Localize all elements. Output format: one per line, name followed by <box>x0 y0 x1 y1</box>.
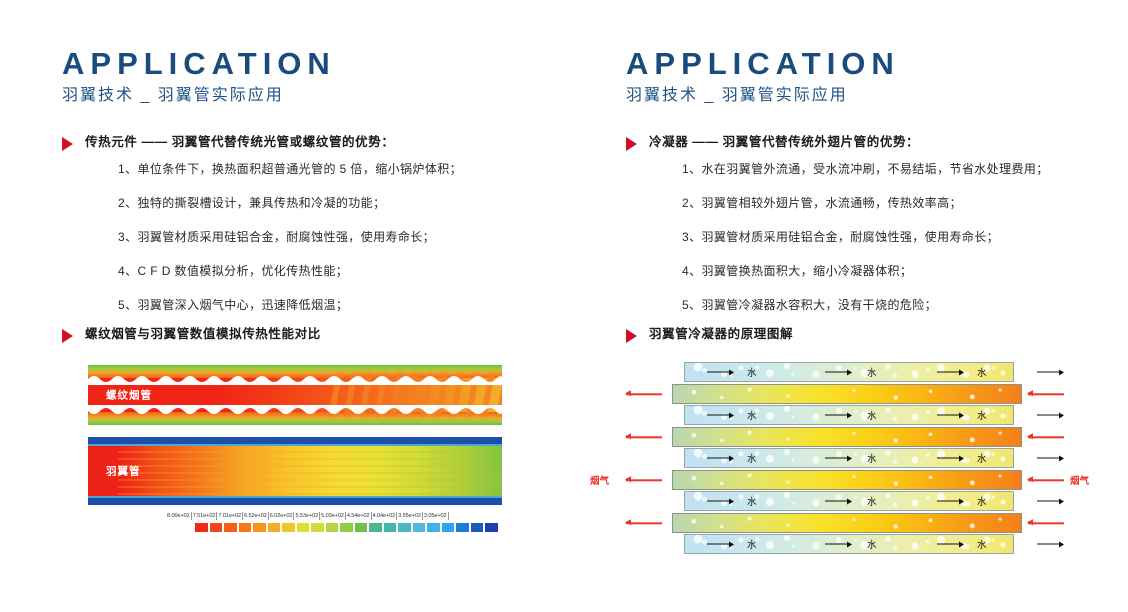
colorbar-swatch <box>194 522 209 533</box>
page-title-right: APPLICATION <box>626 48 900 79</box>
colorbar-swatch <box>267 522 282 533</box>
cfd-colorbar-swatches <box>194 522 499 533</box>
tube-row <box>624 384 1094 406</box>
tube-row: 烟气烟气 <box>624 470 1094 492</box>
cfd-image-threaded: 螺纹烟管 <box>88 365 502 425</box>
water-label: 水 <box>867 537 877 551</box>
cfd-wall-top <box>88 437 502 446</box>
tube-row <box>624 513 1094 535</box>
section-heading-cfd-comparison: 螺纹烟管与羽翼管数值模拟传热性能对比 <box>62 327 321 343</box>
bubble-texture <box>673 385 1021 403</box>
advantage-list-right: 1、水在羽翼管外流通，受水流冲刷，不易结垢，节省水处理费用； 2、羽翼管相较外翅… <box>682 163 1049 333</box>
colorbar-swatch <box>339 522 354 533</box>
bubble-texture <box>673 428 1021 446</box>
water-flow-arrow-icon <box>1037 372 1063 373</box>
triangle-bullet-icon <box>62 329 73 343</box>
cfd-wall-bottom <box>88 496 502 505</box>
cfd-colorbar: 8.00e+02 7.51e+02 7.01e+02 6.52e+02 6.02… <box>166 512 499 533</box>
colorbar-tick: 7.51e+02 <box>192 512 218 520</box>
flue-gas-arrow-right-icon <box>1028 523 1064 524</box>
water-band: 水水水 <box>684 534 1014 554</box>
water-band: 水水水 <box>684 362 1014 382</box>
page-subtitle-left: 羽翼技术 _ 羽翼管实际应用 <box>62 86 284 107</box>
colorbar-tick: 8.00e+02 <box>166 512 192 520</box>
colorbar-swatch <box>383 522 398 533</box>
water-label: 水 <box>977 365 987 379</box>
water-label: 水 <box>747 408 757 422</box>
colorbar-swatch <box>484 522 499 533</box>
flue-gas-label-left: 烟气 <box>590 473 609 487</box>
colorbar-swatch <box>426 522 441 533</box>
finned-tube-band <box>672 427 1022 447</box>
water-flow-arrow-icon <box>707 544 733 545</box>
advantage-list-left: 1、单位条件下，换热面积超普通光管的 5 倍，缩小锅炉体积； 2、独特的撕裂槽设… <box>118 163 462 333</box>
colorbar-swatch <box>441 522 456 533</box>
water-label: 水 <box>867 408 877 422</box>
colorbar-tick: 6.52e+02 <box>243 512 269 520</box>
colorbar-swatch <box>354 522 369 533</box>
bubble-texture <box>673 514 1021 532</box>
finned-tube-band <box>672 470 1022 490</box>
list-item: 2、羽翼管相较外翅片管，水流通畅，传热效率高； <box>682 197 1049 209</box>
water-flow-arrow-icon <box>707 458 733 459</box>
section-heading-advantages-left: 传热元件 —— 羽翼管代替传统光管或螺纹管的优势： <box>62 135 394 151</box>
flue-gas-arrow-left-icon <box>626 480 662 481</box>
list-item: 3、羽翼管材质采用硅铝合金，耐腐蚀性强，使用寿命长； <box>118 231 462 243</box>
water-flow-arrow-icon <box>1037 458 1063 459</box>
section-heading-text: 传热元件 —— 羽翼管代替传统光管或螺纹管的优势： <box>85 135 394 150</box>
water-channel-row: 水水水 <box>624 362 1094 384</box>
water-flow-arrow-icon <box>825 415 851 416</box>
water-flow-arrow-icon <box>825 458 851 459</box>
cfd-figure-yuyi-tube: 羽翼管 <box>88 437 502 505</box>
triangle-bullet-icon <box>626 137 637 151</box>
water-flow-arrow-icon <box>825 544 851 545</box>
flue-gas-arrow-right-icon <box>1028 394 1064 395</box>
section-heading-text: 羽翼管冷凝器的原理图解 <box>649 327 793 342</box>
colorbar-swatch <box>209 522 224 533</box>
section-heading-text: 螺纹烟管与羽翼管数值模拟传热性能对比 <box>85 327 321 342</box>
colorbar-tick: 7.01e+02 <box>217 512 243 520</box>
water-label: 水 <box>747 451 757 465</box>
colorbar-swatch <box>470 522 485 533</box>
water-label: 水 <box>977 537 987 551</box>
list-item: 1、单位条件下，换热面积超普通光管的 5 倍，缩小锅炉体积； <box>118 163 462 175</box>
water-flow-arrow-icon <box>937 501 963 502</box>
section-heading-advantages-right: 冷凝器 —— 羽翼管代替传统外翅片管的优势： <box>626 135 919 151</box>
colorbar-swatch <box>455 522 470 533</box>
bubble-texture <box>673 471 1021 489</box>
colorbar-swatch <box>310 522 325 533</box>
flue-gas-arrow-left-icon <box>626 437 662 438</box>
condenser-principle-diagram: 水水水水水水水水水烟气烟气水水水水水水 <box>624 362 1094 557</box>
colorbar-swatch <box>281 522 296 533</box>
water-label: 水 <box>977 494 987 508</box>
colorbar-swatch <box>223 522 238 533</box>
water-channel-row: 水水水 <box>624 534 1094 556</box>
cfd-colorbar-labels: 8.00e+02 7.51e+02 7.01e+02 6.52e+02 6.02… <box>166 512 499 520</box>
page-title-left: APPLICATION <box>62 48 336 79</box>
flue-gas-label-right: 烟气 <box>1070 473 1089 487</box>
triangle-bullet-icon <box>62 137 73 151</box>
page-subtitle-right: 羽翼技术 _ 羽翼管实际应用 <box>626 86 848 107</box>
colorbar-tick: 5.53e+02 <box>294 512 320 520</box>
water-label: 水 <box>867 451 877 465</box>
water-label: 水 <box>747 365 757 379</box>
water-flow-arrow-icon <box>825 501 851 502</box>
water-flow-arrow-icon <box>1037 415 1063 416</box>
flue-gas-arrow-left-icon <box>626 523 662 524</box>
list-item: 4、C F D 数值模拟分析，优化传热性能； <box>118 265 462 277</box>
water-label: 水 <box>747 537 757 551</box>
water-band: 水水水 <box>684 491 1014 511</box>
cfd-image-yuyi: 羽翼管 <box>88 437 502 505</box>
cfd-wavy-edge-top-icon <box>88 373 502 385</box>
tube-row <box>624 427 1094 449</box>
finned-tube-band <box>672 513 1022 533</box>
colorbar-swatch <box>368 522 383 533</box>
list-item: 3、羽翼管材质采用硅铝合金，耐腐蚀性强，使用寿命长； <box>682 231 1049 243</box>
list-item: 5、羽翼管冷凝器水容积大，没有干烧的危险； <box>682 299 1049 311</box>
water-flow-arrow-icon <box>937 415 963 416</box>
water-flow-arrow-icon <box>1037 544 1063 545</box>
colorbar-swatch <box>325 522 340 533</box>
water-flow-arrow-icon <box>937 458 963 459</box>
water-flow-arrow-icon <box>707 372 733 373</box>
cfd-wavy-edge-bottom-icon <box>88 405 502 417</box>
water-label: 水 <box>867 494 877 508</box>
triangle-bullet-icon <box>626 329 637 343</box>
flue-gas-arrow-left-icon <box>626 394 662 395</box>
water-channel-row: 水水水 <box>624 491 1094 513</box>
flue-gas-arrow-right-icon <box>1028 480 1064 481</box>
list-item: 2、独特的撕裂槽设计，兼具传热和冷凝的功能； <box>118 197 462 209</box>
list-item: 1、水在羽翼管外流通，受水流冲刷，不易结垢，节省水处理费用； <box>682 163 1049 175</box>
list-item: 5、羽翼管深入烟气中心，迅速降低烟温； <box>118 299 462 311</box>
colorbar-tick: 4.04e+02 <box>372 512 398 520</box>
water-band: 水水水 <box>684 405 1014 425</box>
water-flow-arrow-icon <box>937 372 963 373</box>
colorbar-swatch <box>252 522 267 533</box>
colorbar-swatch <box>397 522 412 533</box>
colorbar-tick: 3.05e+02 <box>423 512 449 520</box>
colorbar-tick: 3.55e+02 <box>397 512 423 520</box>
finned-tube-band <box>672 384 1022 404</box>
water-flow-arrow-icon <box>1037 501 1063 502</box>
slide-page: APPLICATION 羽翼技术 _ 羽翼管实际应用 传热元件 —— 羽翼管代替… <box>0 0 1128 612</box>
colorbar-tick: 5.03e+02 <box>320 512 346 520</box>
colorbar-swatch <box>296 522 311 533</box>
section-heading-text: 冷凝器 —— 羽翼管代替传统外翅片管的优势： <box>649 135 919 150</box>
colorbar-tick: 4.54e+02 <box>346 512 372 520</box>
water-label: 水 <box>747 494 757 508</box>
cfd-figure-threaded-tube: 螺纹烟管 <box>88 365 502 425</box>
water-label: 水 <box>867 365 877 379</box>
colorbar-tick: 6.02e+02 <box>269 512 295 520</box>
water-flow-arrow-icon <box>707 501 733 502</box>
cfd-figure-label: 羽翼管 <box>106 464 141 479</box>
colorbar-swatch <box>238 522 253 533</box>
water-label: 水 <box>977 451 987 465</box>
list-item: 4、羽翼管换热面积大，缩小冷凝器体积； <box>682 265 1049 277</box>
cfd-streak-pattern <box>118 446 502 496</box>
water-flow-arrow-icon <box>707 415 733 416</box>
colorbar-swatch <box>412 522 427 533</box>
section-heading-condenser-diagram: 羽翼管冷凝器的原理图解 <box>626 327 793 343</box>
water-channel-row: 水水水 <box>624 448 1094 470</box>
water-label: 水 <box>977 408 987 422</box>
right-column: APPLICATION 羽翼技术 _ 羽翼管实际应用 冷凝器 —— 羽翼管代替传… <box>564 0 1128 612</box>
water-band: 水水水 <box>684 448 1014 468</box>
cfd-figure-label: 螺纹烟管 <box>106 388 152 403</box>
water-flow-arrow-icon <box>825 372 851 373</box>
water-channel-row: 水水水 <box>624 405 1094 427</box>
water-flow-arrow-icon <box>937 544 963 545</box>
flue-gas-arrow-right-icon <box>1028 437 1064 438</box>
left-column: APPLICATION 羽翼技术 _ 羽翼管实际应用 传热元件 —— 羽翼管代替… <box>0 0 564 612</box>
